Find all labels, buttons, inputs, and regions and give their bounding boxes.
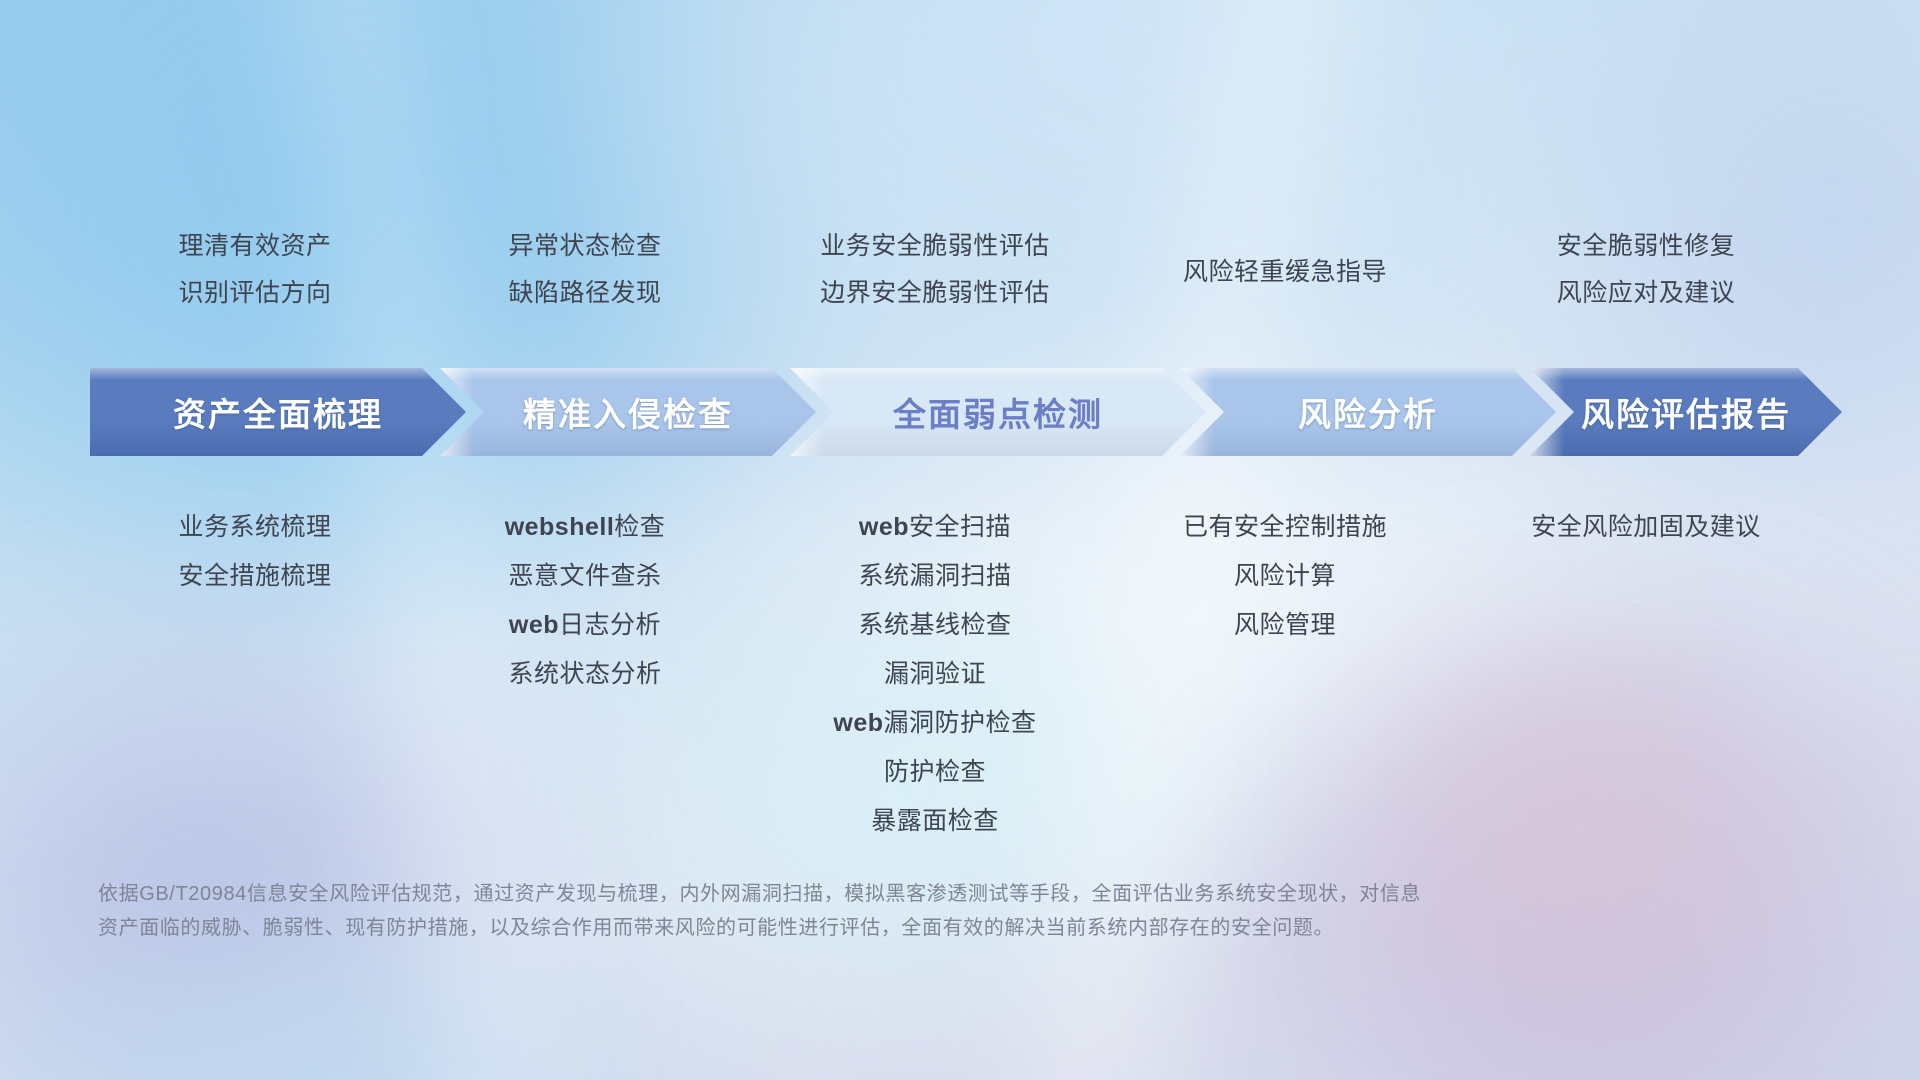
label-bold-prefix: web (833, 709, 883, 737)
stage-title: 资产全面梳理 (173, 388, 383, 436)
top-label-text: 风险轻重缓急指导 (1183, 260, 1387, 285)
label-text: 日志分析 (559, 611, 661, 639)
stage-highlight (1180, 368, 1556, 380)
bottom-label-text: web日志分析 (509, 613, 661, 638)
bottom-label-text: 已有安全控制措施 (1183, 515, 1387, 540)
process-diagram: 理清有效资产识别评估方向异常状态检查缺陷路径发现业务安全脆弱性评估边界安全脆弱性… (0, 0, 1920, 1080)
label-text: 检查 (614, 513, 665, 541)
bottom-label-text: 安全风险加固及建议 (1531, 515, 1761, 540)
bottom-label-text: web安全扫描 (859, 515, 1011, 540)
bottom-label-text: 漏洞验证 (884, 662, 986, 687)
top-label-column-1: 理清有效资产识别评估方向 (90, 234, 420, 306)
bottom-label-text: 风险计算 (1234, 564, 1336, 589)
top-label-column-4: 风险轻重缓急指导 (1120, 260, 1450, 285)
process-stage-4[interactable]: 风险分析 (1180, 368, 1556, 456)
top-label-text: 识别评估方向 (178, 281, 331, 306)
stage-highlight (790, 368, 1206, 380)
label-bold-prefix: web (509, 611, 559, 639)
label-text: 安全扫描 (909, 513, 1011, 541)
footer-description: 依据GB/T20984信息安全风险评估规范，通过资产发现与梳理，内外网漏洞扫描，… (98, 877, 1658, 945)
stage-title: 风险分析 (1298, 388, 1438, 436)
stage-highlight (440, 368, 816, 380)
top-label-column-2: 异常状态检查缺陷路径发现 (420, 234, 750, 306)
bottom-label-text: 暴露面检查 (871, 809, 999, 834)
top-label-column-3: 业务安全脆弱性评估边界安全脆弱性评估 (750, 234, 1120, 306)
footer-line-1: 依据GB/T20984信息安全风险评估规范，通过资产发现与梳理，内外网漏洞扫描，… (98, 877, 1658, 911)
bottom-label-text: 恶意文件查杀 (508, 564, 661, 589)
stage-title: 风险评估报告 (1581, 388, 1791, 436)
top-label-text: 缺陷路径发现 (508, 281, 661, 306)
bottom-label-text: 防护检查 (884, 760, 986, 785)
bottom-label-text: 业务系统梳理 (178, 515, 331, 540)
bottom-label-text: 系统漏洞扫描 (858, 564, 1011, 589)
top-label-text: 理清有效资产 (178, 234, 331, 259)
bottom-label-text: web漏洞防护检查 (833, 711, 1036, 736)
bottom-label-column-5: 安全风险加固及建议 (1450, 515, 1842, 540)
top-label-text: 安全脆弱性修复 (1557, 234, 1736, 259)
label-bold-prefix: web (859, 513, 909, 541)
top-label-text: 风险应对及建议 (1557, 281, 1736, 306)
top-label-text: 边界安全脆弱性评估 (820, 281, 1050, 306)
top-label-column-5: 安全脆弱性修复风险应对及建议 (1450, 234, 1842, 306)
stage-highlight (90, 368, 466, 380)
stage-title: 全面弱点检测 (893, 388, 1103, 436)
label-bold-prefix: webshell (505, 513, 615, 541)
bottom-label-column-3: web安全扫描系统漏洞扫描系统基线检查漏洞验证web漏洞防护检查防护检查暴露面检… (750, 515, 1120, 834)
stage-highlight (1530, 368, 1842, 380)
process-stage-banner: 资产全面梳理精准入侵检查全面弱点检测风险分析风险评估报告 (90, 368, 1842, 456)
label-text: 漏洞防护检查 (884, 709, 1037, 737)
bottom-label-text: 系统基线检查 (858, 613, 1011, 638)
bottom-label-text: webshell检查 (505, 515, 666, 540)
bottom-label-text: 系统状态分析 (508, 662, 661, 687)
process-stage-2[interactable]: 精准入侵检查 (440, 368, 816, 456)
bottom-label-text: 风险管理 (1234, 613, 1336, 638)
top-label-text: 业务安全脆弱性评估 (820, 234, 1050, 259)
stage-title: 精准入侵检查 (523, 388, 733, 436)
top-label-text: 异常状态检查 (508, 234, 661, 259)
process-stage-3[interactable]: 全面弱点检测 (790, 368, 1206, 456)
footer-line-2: 资产面临的威胁、脆弱性、现有防护措施，以及综合作用而带来风险的可能性进行评估，全… (98, 911, 1658, 945)
process-stage-1[interactable]: 资产全面梳理 (90, 368, 466, 456)
bottom-label-text: 安全措施梳理 (178, 564, 331, 589)
bottom-label-column-4: 已有安全控制措施风险计算风险管理 (1120, 515, 1450, 638)
bottom-label-column-2: webshell检查恶意文件查杀web日志分析系统状态分析 (420, 515, 750, 687)
process-stage-5[interactable]: 风险评估报告 (1530, 368, 1842, 456)
bottom-label-column-1: 业务系统梳理安全措施梳理 (90, 515, 420, 589)
